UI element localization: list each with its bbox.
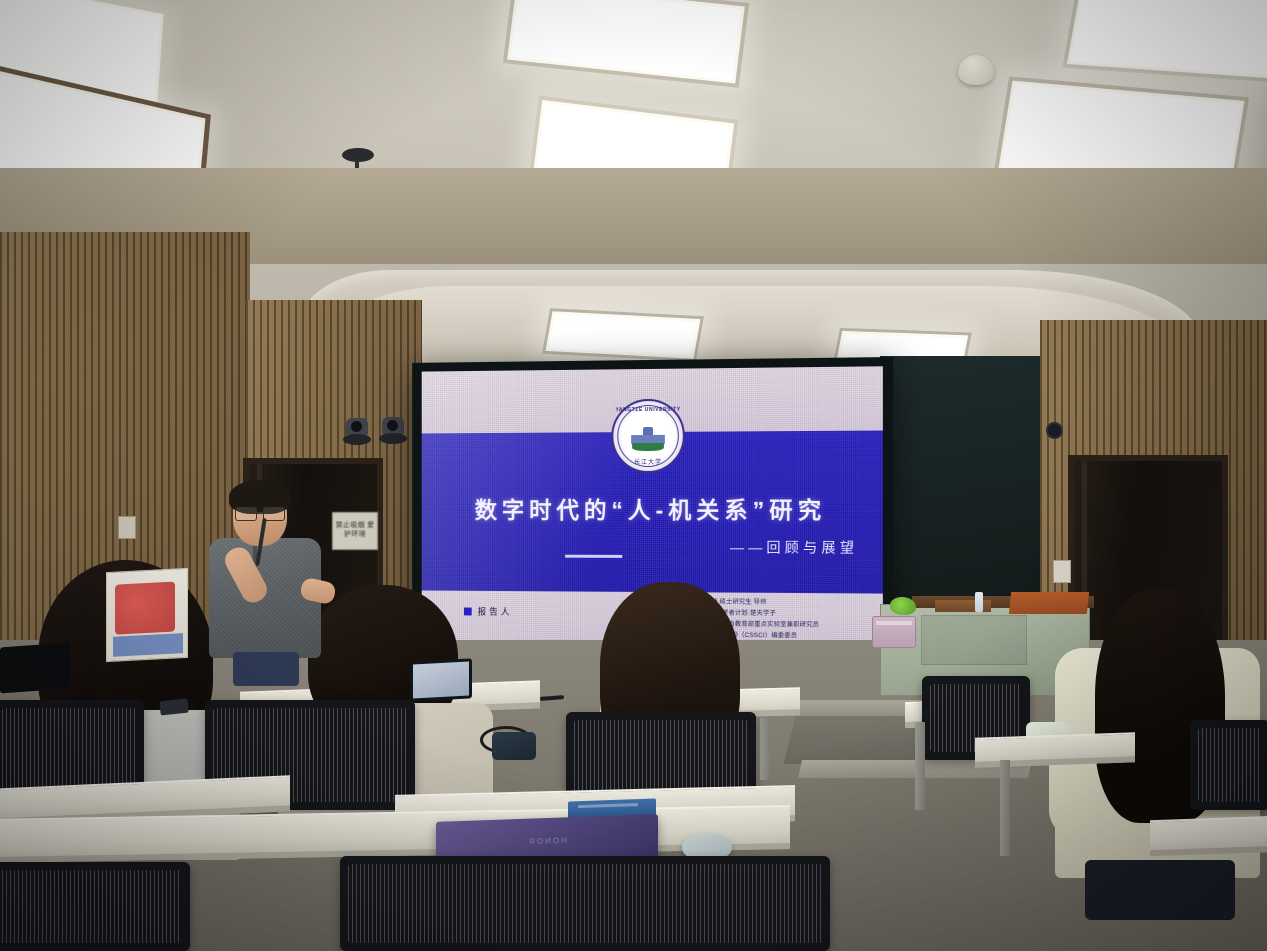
glasses-icon: [235, 507, 285, 519]
crest-building-icon: [631, 427, 665, 451]
storage-basket: [872, 616, 916, 648]
desktop-monitor: [410, 658, 472, 701]
desk-leg: [760, 718, 769, 780]
chair-foreground: [340, 856, 830, 951]
smoke-detector-icon: [958, 55, 994, 85]
ceiling-light-panel: [542, 308, 704, 362]
door-sign: 禁止吸烟 爱护环境: [332, 512, 378, 550]
cardboard-box: [106, 568, 188, 662]
water-bottle: [975, 592, 983, 612]
ptz-camera-icon: [343, 418, 371, 448]
chair: [1190, 720, 1267, 810]
smartphone[interactable]: [159, 699, 188, 716]
desk-leg: [1000, 760, 1010, 856]
slide-rule: [565, 555, 622, 558]
desk-far-right: [1150, 816, 1267, 857]
wall-outlet: [118, 516, 136, 539]
presenter-person: [205, 484, 325, 674]
laptop-brand-logo: HONOR: [527, 836, 567, 846]
desk-leg: [915, 722, 925, 810]
slide-title: 数字时代的“人-机关系”研究: [422, 491, 883, 526]
desktop-monitor: [0, 643, 70, 694]
wall-outlet: [1053, 560, 1071, 583]
crest-english-name: YANGTZE UNIVERSITY: [613, 407, 683, 414]
chair-foreground: [0, 862, 190, 951]
ptz-camera-icon: [379, 417, 407, 447]
desk-row-2: [975, 732, 1135, 768]
lecture-hall-photo: 禁止吸烟 爱护环境 YANGTZE UNIVERSITY 长江大学 数字时代的“…: [0, 0, 1267, 951]
potted-plant: [890, 597, 916, 615]
university-crest-logo: YANGTZE UNIVERSITY 长江大学: [611, 399, 685, 473]
crest-chinese-name: 长江大学: [613, 457, 683, 466]
slide-subtitle: ——回顾与展望: [730, 537, 858, 558]
wall-camera-icon: [1048, 424, 1061, 437]
presenter-trousers: [233, 652, 299, 686]
bag: [492, 732, 536, 760]
lap-legs: [1085, 860, 1235, 920]
